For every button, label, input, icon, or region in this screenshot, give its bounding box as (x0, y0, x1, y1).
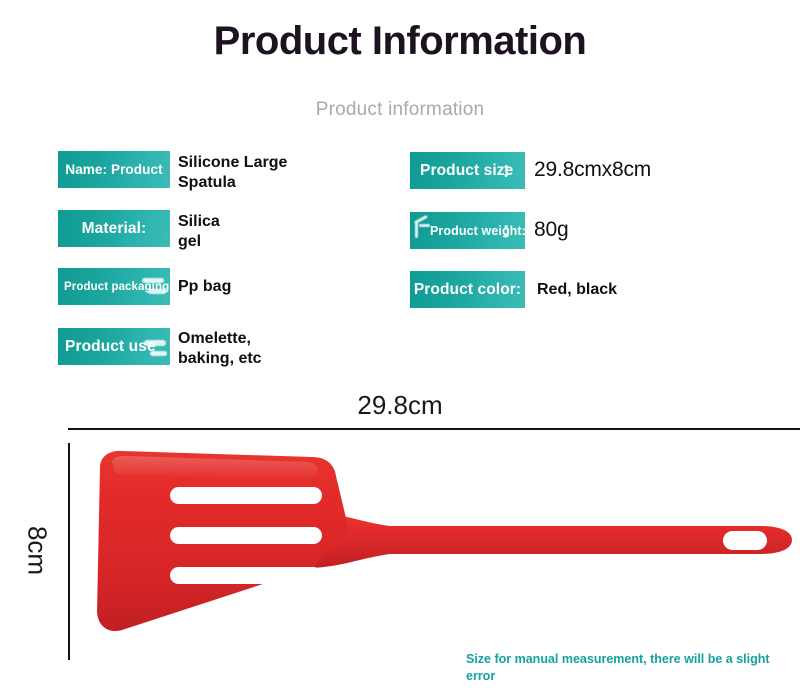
spatula-slot-3 (170, 567, 322, 584)
spec-label-name: Name: Product (58, 151, 170, 188)
spec-value-weight: 80g (534, 217, 568, 243)
spec-label-weight: Product weight: ： (410, 212, 525, 249)
measurement-disclaimer: Size for manual measurement, there will … (466, 651, 786, 685)
spec-row-name: Name: Product Silicone Large Spatula (58, 151, 287, 192)
spec-label-size: Product size ： (410, 152, 525, 189)
weight-scale-icon-pan (419, 224, 430, 227)
spec-value-name: Silicone Large Spatula (178, 153, 287, 192)
spec-value-color: Red, black (537, 280, 617, 300)
spec-row-material: Material: Silica gel (58, 210, 220, 251)
spec-label-material: Material: (58, 210, 170, 247)
spec-row-weight: Product weight: ： 80g (410, 212, 568, 249)
spatula-hang-hole (723, 531, 767, 550)
spec-label-size-text: Product size (420, 162, 513, 180)
spec-label-weight-colon: ： (502, 222, 519, 239)
spec-value-material: Silica gel (178, 212, 220, 251)
spatula-handle (312, 512, 792, 568)
spec-label-color: Product color: (410, 271, 525, 308)
spatula-slot-1 (170, 487, 322, 504)
spatula-slot-2 (170, 527, 322, 544)
spec-label-packaging-text: Product packaging (64, 281, 169, 293)
spec-label-material-text: Material: (82, 220, 147, 238)
spec-label-packaging: Product packaging (58, 268, 170, 305)
spec-row-color: Product color: Red, black (410, 271, 617, 308)
spec-label-use: Product use (58, 328, 170, 365)
spec-row-use: Product use Omelette, baking, etc (58, 328, 262, 368)
spec-value-packaging: Pp bag (178, 277, 231, 297)
product-information-page: Product Information Product information … (0, 0, 800, 700)
product-image-silicone-spatula (60, 440, 800, 650)
weight-scale-icon (414, 215, 428, 224)
dimension-width-rule (68, 428, 800, 430)
spec-label-size-colon: ： (502, 162, 519, 179)
spec-row-size: Product size ： 29.8cmx8cm (410, 152, 651, 189)
page-subtitle: Product information (0, 99, 800, 121)
spec-row-packaging: Product packaging Pp bag (58, 268, 231, 305)
dimension-width-label: 29.8cm (0, 390, 800, 421)
dimension-height-label: 8cm (22, 506, 53, 596)
weight-scale-icon-base (415, 222, 418, 238)
spec-value-use: Omelette, baking, etc (178, 329, 262, 368)
spec-label-use-text: Product use (65, 338, 156, 356)
spatula-illustration (60, 440, 800, 650)
spec-value-size: 29.8cmx8cm (534, 157, 651, 183)
page-title: Product Information (0, 18, 800, 64)
spec-label-color-text: Product color: (414, 281, 521, 299)
spec-label-name-text: Name: Product (65, 162, 162, 177)
